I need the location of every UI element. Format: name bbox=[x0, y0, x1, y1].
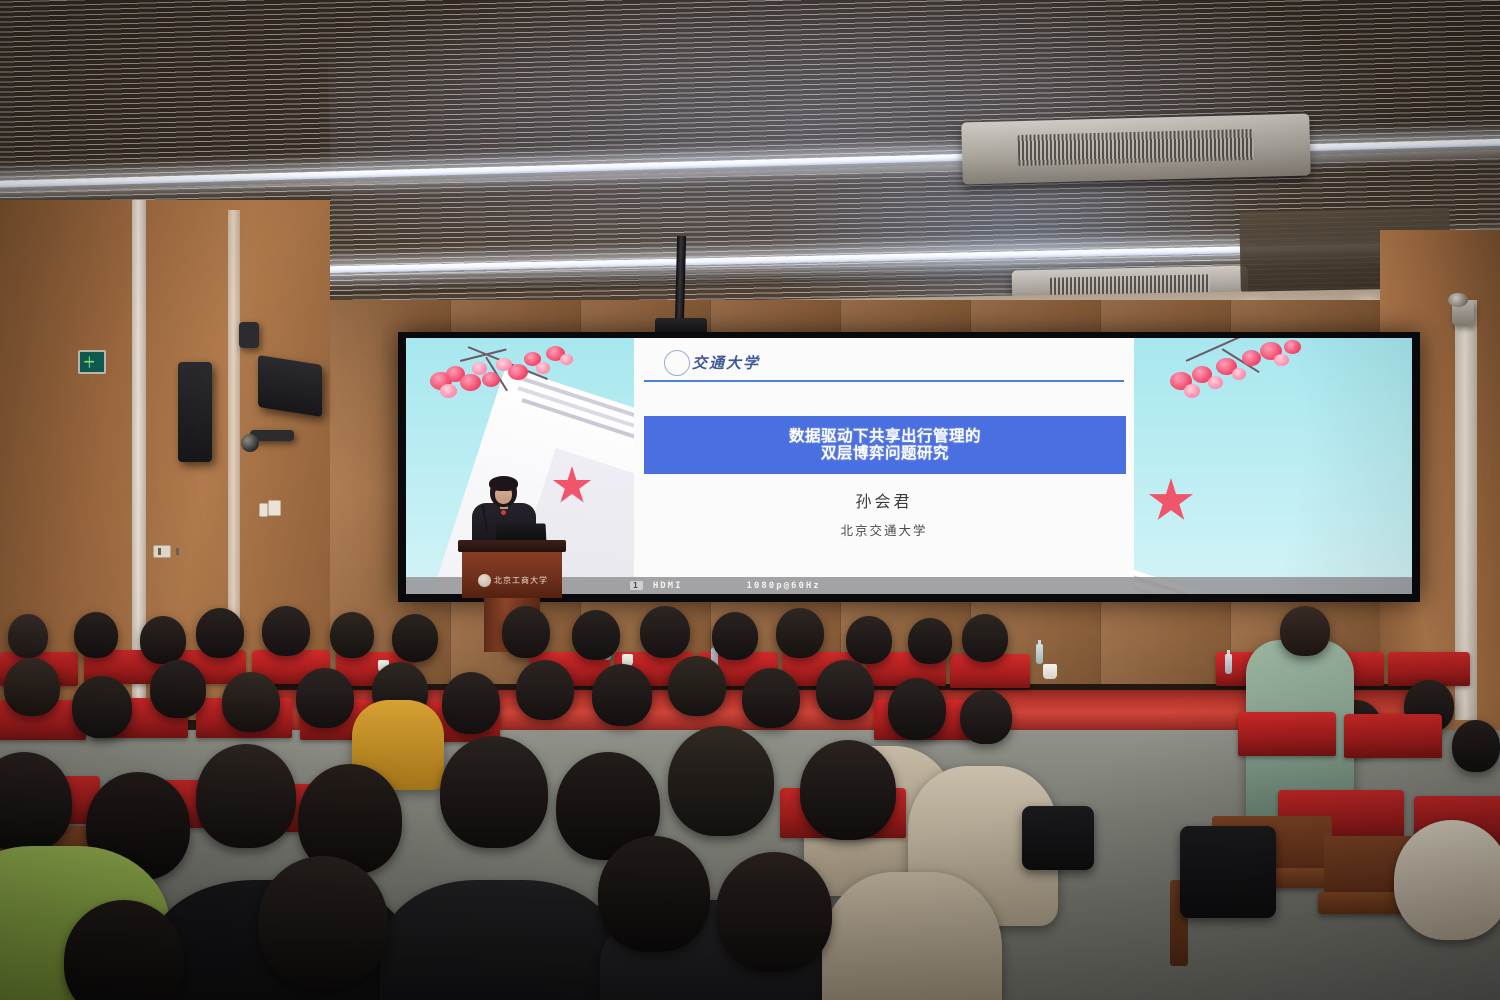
lectern-top bbox=[458, 540, 566, 552]
water-bottle bbox=[1036, 644, 1043, 664]
air-conditioner-unit-1 bbox=[961, 113, 1311, 184]
slide-title: 数据驱动下共享出行管理的 双层博弈问题研究 bbox=[644, 416, 1126, 474]
backpack bbox=[1180, 826, 1276, 918]
backpack bbox=[1022, 806, 1094, 870]
university-seal-icon bbox=[478, 574, 491, 587]
lectern-front-panel: 北京工商大学 bbox=[462, 550, 562, 598]
wall-switch-panel[interactable] bbox=[268, 500, 281, 516]
slide-content-card: 交通大学 数据驱动下共享出行管理的 双层博弈问题研究 孙会君 北京交通大学 bbox=[634, 338, 1134, 594]
osd-resolution-label: 1080p@60Hz bbox=[747, 581, 821, 591]
ceiling-camera[interactable] bbox=[239, 322, 259, 348]
slide-presenter-affiliation: 北京交通大学 bbox=[634, 520, 1134, 539]
slide-title-band: 数据驱动下共享出行管理的 双层博弈问题研究 bbox=[644, 416, 1126, 474]
exit-sign bbox=[78, 350, 106, 374]
slide-title-line-2: 双层博弈问题研究 bbox=[821, 445, 949, 462]
slide-logo-text: 交通大学 bbox=[692, 352, 760, 373]
foreground-head-2 bbox=[716, 852, 832, 972]
wall-spotlight bbox=[1452, 300, 1474, 326]
slide-title-line-1: 数据驱动下共享出行管理的 bbox=[789, 428, 981, 445]
wall-outlet[interactable] bbox=[153, 545, 171, 558]
osd-source-label: HDMI bbox=[653, 581, 683, 591]
water-bottle bbox=[1225, 654, 1232, 674]
slide-divider-rule bbox=[644, 380, 1124, 382]
wall-speaker-left bbox=[178, 362, 212, 462]
foreground-attendee-beige bbox=[822, 872, 1002, 1000]
drink-cup bbox=[1043, 664, 1057, 679]
foreground-head bbox=[598, 836, 710, 952]
slide-logo-row: 交通大学 bbox=[634, 344, 1134, 378]
osd-input-number: 1 bbox=[630, 581, 643, 590]
presenter-lapel-pin bbox=[501, 510, 506, 515]
foreground-head-3 bbox=[258, 856, 388, 988]
camera-lens-icon bbox=[241, 434, 259, 452]
lecture-hall-photo: 交通大学 数据驱动下共享出行管理的 双层博弈问题研究 孙会君 北京交通大学 1 … bbox=[0, 0, 1500, 1000]
foreground-light-coat bbox=[1394, 820, 1500, 940]
lectern-nameplate: 北京工商大学 bbox=[494, 575, 548, 586]
ptz-camera[interactable] bbox=[250, 430, 294, 441]
presenter-hair bbox=[489, 476, 518, 491]
foreground-attendee-dark-2 bbox=[380, 880, 620, 1000]
university-logo-icon bbox=[664, 350, 690, 376]
standing-attendee-head bbox=[1280, 606, 1330, 656]
slide-presenter-name: 孙会君 bbox=[634, 488, 1134, 512]
wall-switch[interactable] bbox=[259, 503, 268, 517]
wall-speaker-right bbox=[258, 355, 322, 417]
